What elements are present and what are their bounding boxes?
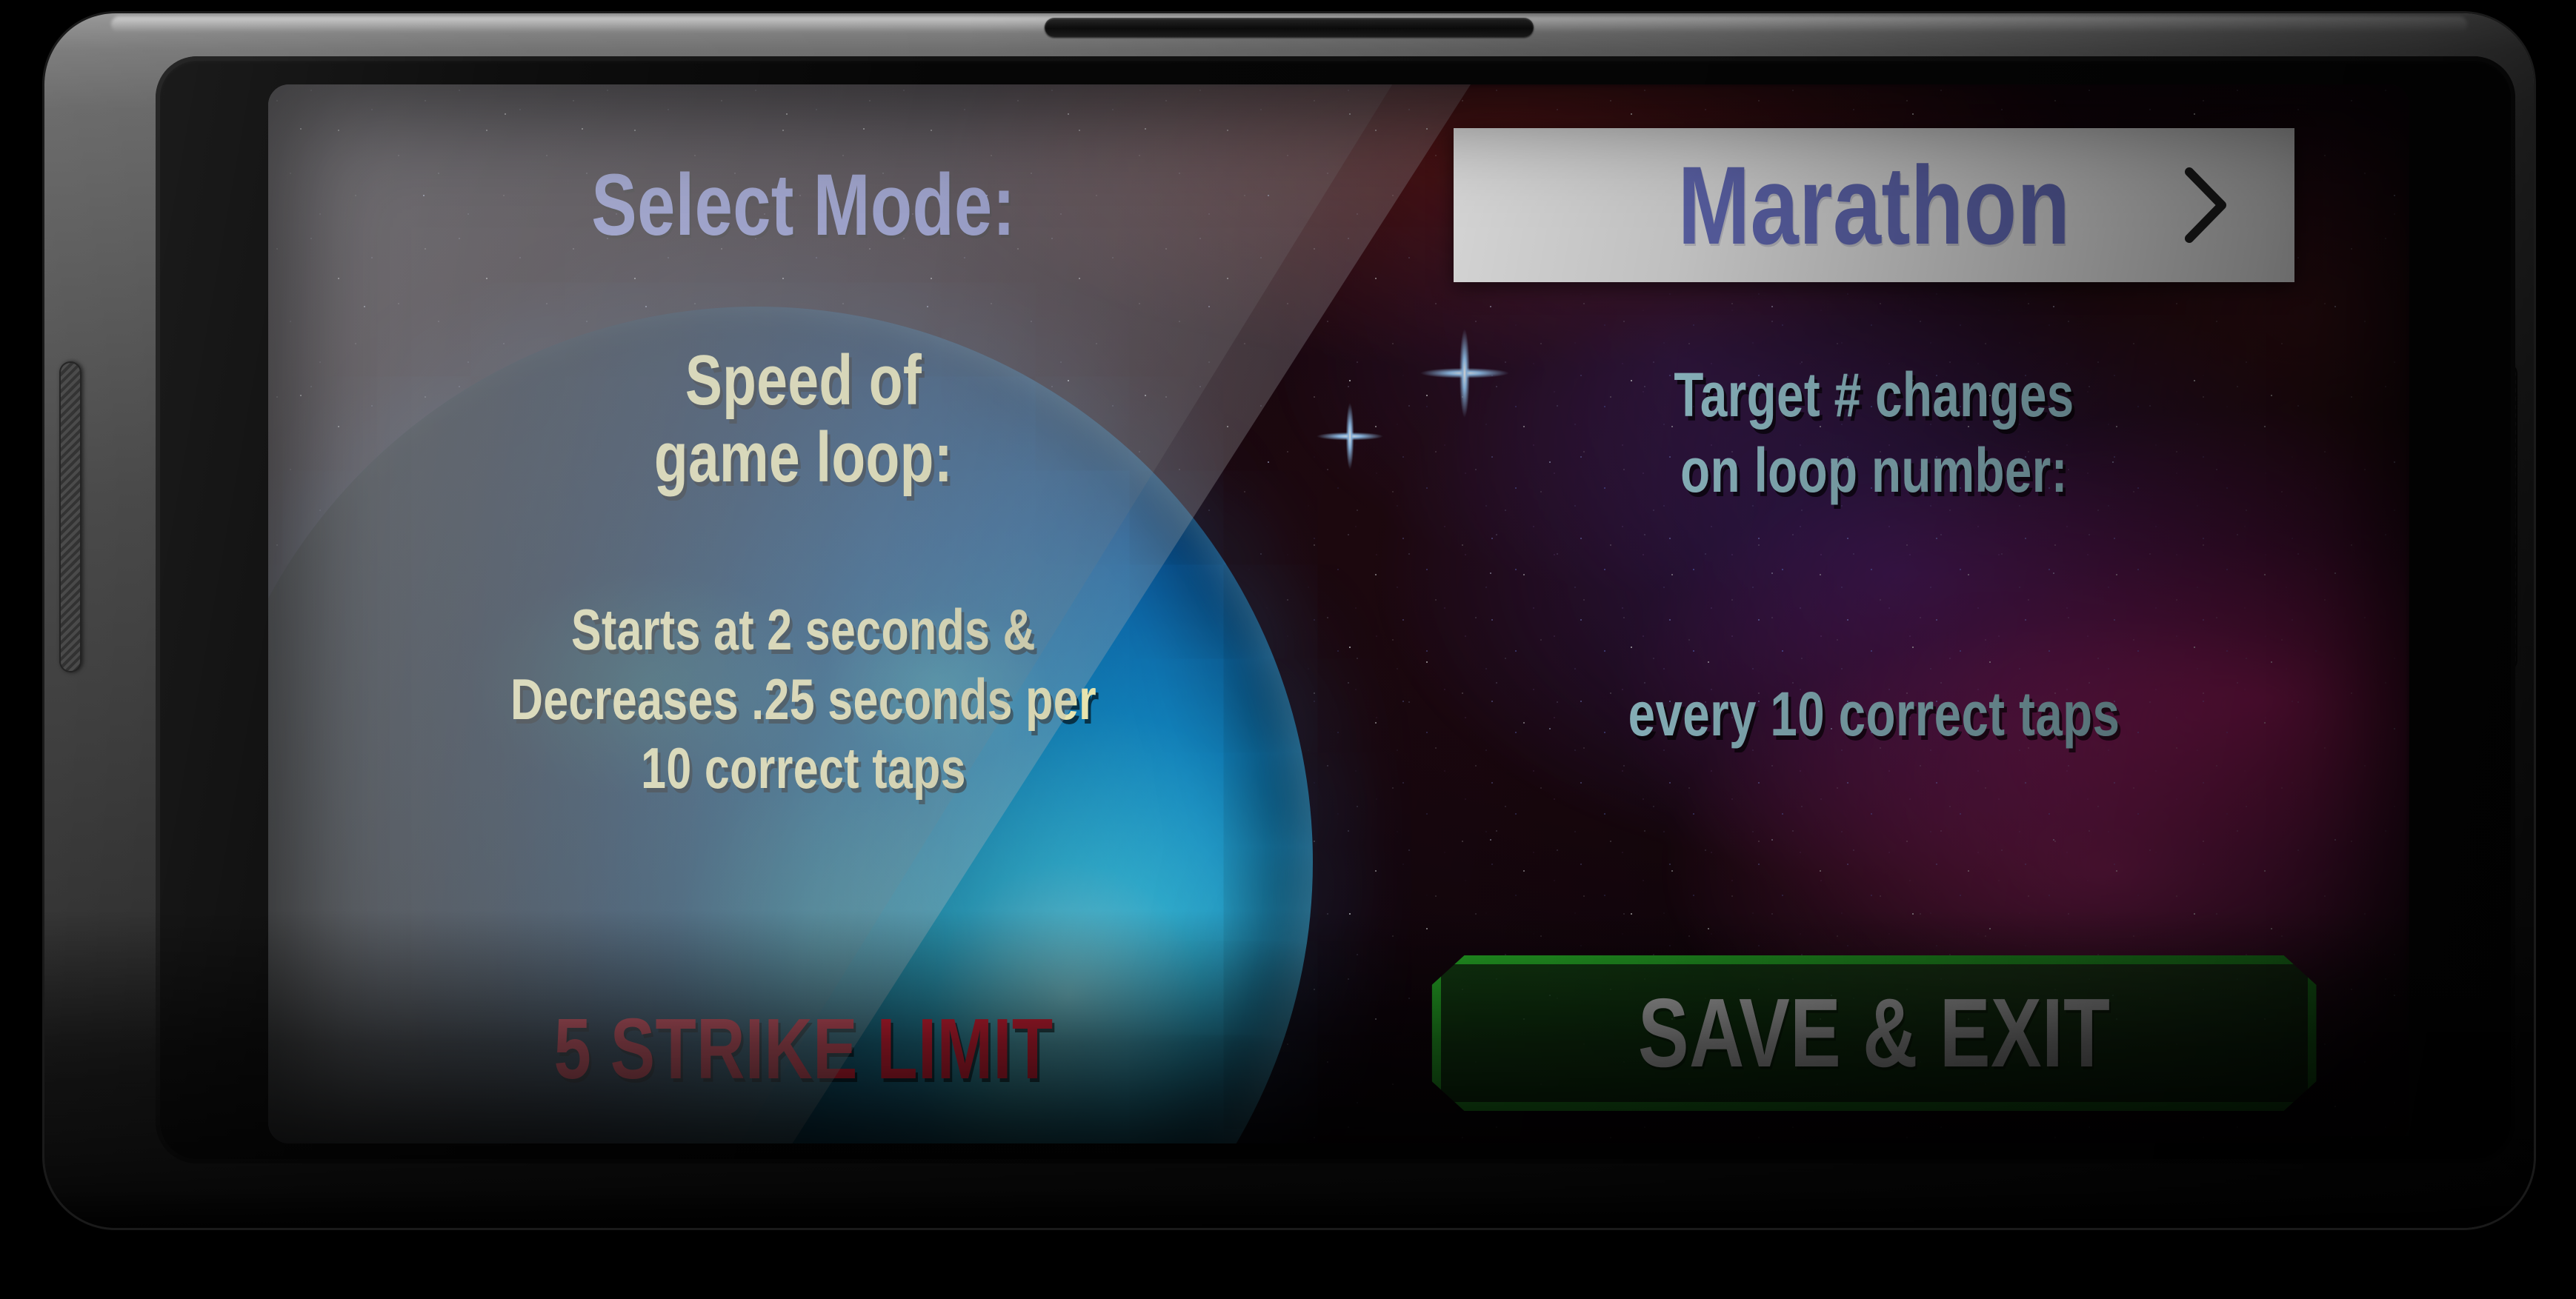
target-settings-panel: Target # changes on loop number: every 1… [1339,307,2409,1143]
speed-heading-line-1: Speed of [386,342,1221,419]
select-mode-label: Select Mode: [386,161,1221,249]
target-heading-line-1: Target # changes [1457,357,2292,433]
save-and-exit-button[interactable]: SAVE & EXIT [1432,955,2317,1111]
phone-screen: Select Mode: Marathon [268,84,2409,1143]
speed-body-line-2: Decreases .25 seconds per [386,665,1221,735]
target-heading: Target # changes on loop number: [1457,357,2292,509]
settings-screen: Select Mode: Marathon [268,84,2409,1143]
mode-selector-row: Select Mode: Marathon [268,127,2409,283]
mode-dropdown-value: Marathon [1678,150,2071,261]
mode-dropdown[interactable]: Marathon [1454,128,2294,282]
target-body: every 10 correct taps [1457,677,2292,752]
speed-heading-line-2: game loop: [386,419,1221,496]
speed-heading: Speed of game loop: [386,342,1221,495]
target-heading-line-2: on loop number: [1457,433,2292,508]
speed-body-line-1: Starts at 2 seconds & [386,595,1221,665]
earpiece-speaker-slot [1045,18,1534,37]
speed-body: Starts at 2 seconds & Decreases .25 seco… [386,595,1221,804]
speed-settings-panel: Speed of game loop: Starts at 2 seconds … [268,307,1339,1143]
phone-bezel: Select Mode: Marathon [156,56,2515,1163]
mode-dropdown-wrap: Marathon [1339,128,2409,282]
speed-body-line-3: 10 correct taps [386,734,1221,804]
chevron-right-icon[interactable] [2179,164,2231,246]
save-and-exit-label: SAVE & EXIT [1638,984,2110,1082]
phone-device: Select Mode: Marathon [44,13,2534,1228]
volume-button[interactable] [59,361,81,672]
settings-columns: Speed of game loop: Starts at 2 seconds … [268,307,2409,1143]
strike-limit-label: 5 STRIKE LIMIT [386,1006,1221,1092]
